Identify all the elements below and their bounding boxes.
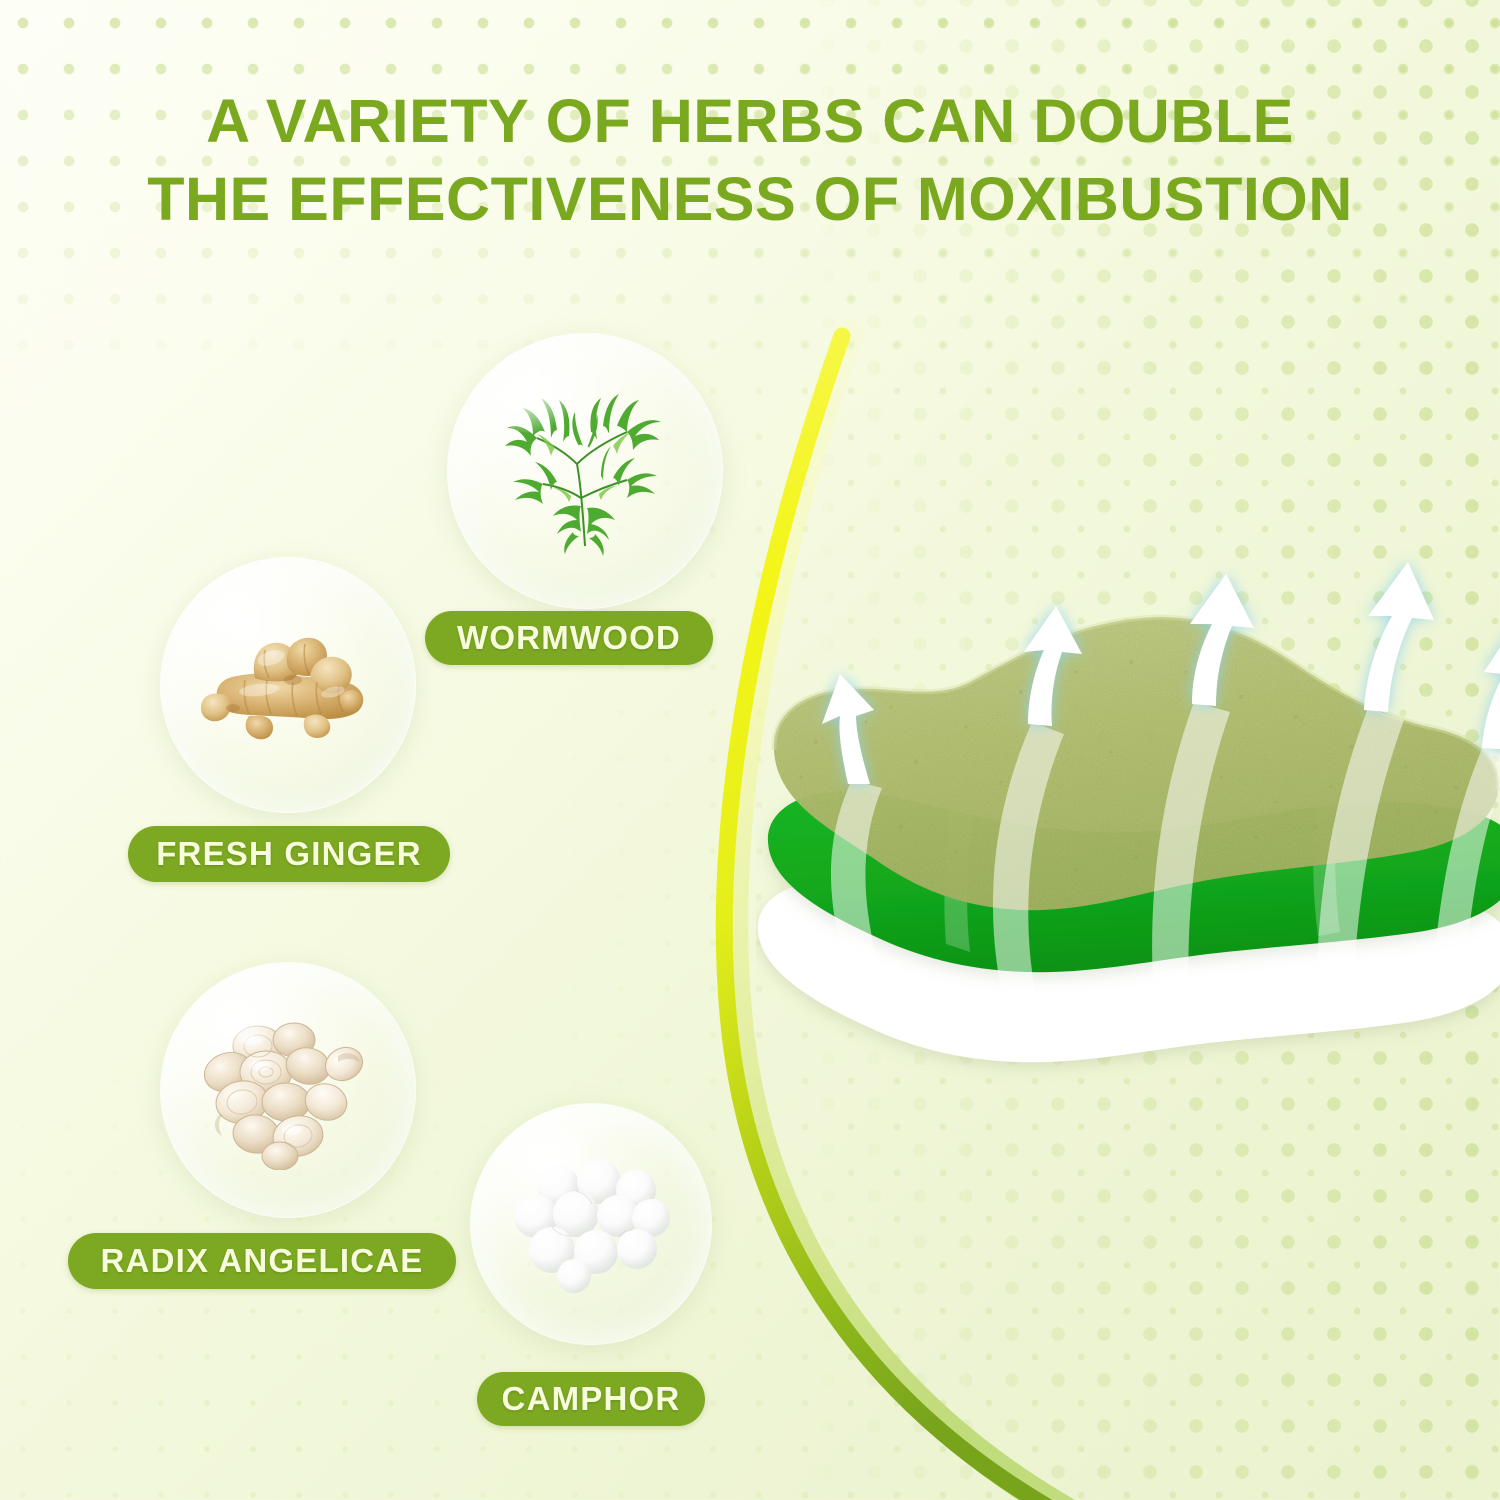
- wormwood-leaves-icon: [448, 334, 722, 608]
- ingredient-label-text: WORMWOOD: [457, 619, 681, 657]
- ingredient-label-text: RADIX ANGELICAE: [101, 1242, 424, 1280]
- angelica-root-slices-icon: [161, 963, 415, 1217]
- ingredient-label-text: FRESH GINGER: [156, 835, 422, 873]
- ingredient-bubble-camphor: [470, 1103, 712, 1345]
- camphor-balls-icon: [471, 1104, 711, 1344]
- title-line-1: A VARIETY OF HERBS CAN DOUBLE: [40, 82, 1460, 160]
- ingredient-label-ginger: FRESH GINGER: [128, 826, 450, 882]
- ingredient-bubble-ginger: [160, 557, 416, 813]
- ingredient-label-camphor: CAMPHOR: [477, 1372, 705, 1426]
- title-line-2: THE EFFECTIVENESS OF MOXIBUSTION: [40, 160, 1460, 238]
- ingredient-bubble-angelica: [160, 962, 416, 1218]
- ingredient-label-text: CAMPHOR: [502, 1380, 681, 1418]
- ingredient-bubble-wormwood: [447, 333, 723, 609]
- ingredient-label-wormwood: WORMWOOD: [425, 611, 713, 665]
- ginger-root-icon: [161, 558, 415, 812]
- ingredient-label-angelica: RADIX ANGELICAE: [68, 1233, 456, 1289]
- page-title: A VARIETY OF HERBS CAN DOUBLE THE EFFECT…: [0, 82, 1500, 238]
- moxibustion-patch-layers: [756, 512, 1500, 1152]
